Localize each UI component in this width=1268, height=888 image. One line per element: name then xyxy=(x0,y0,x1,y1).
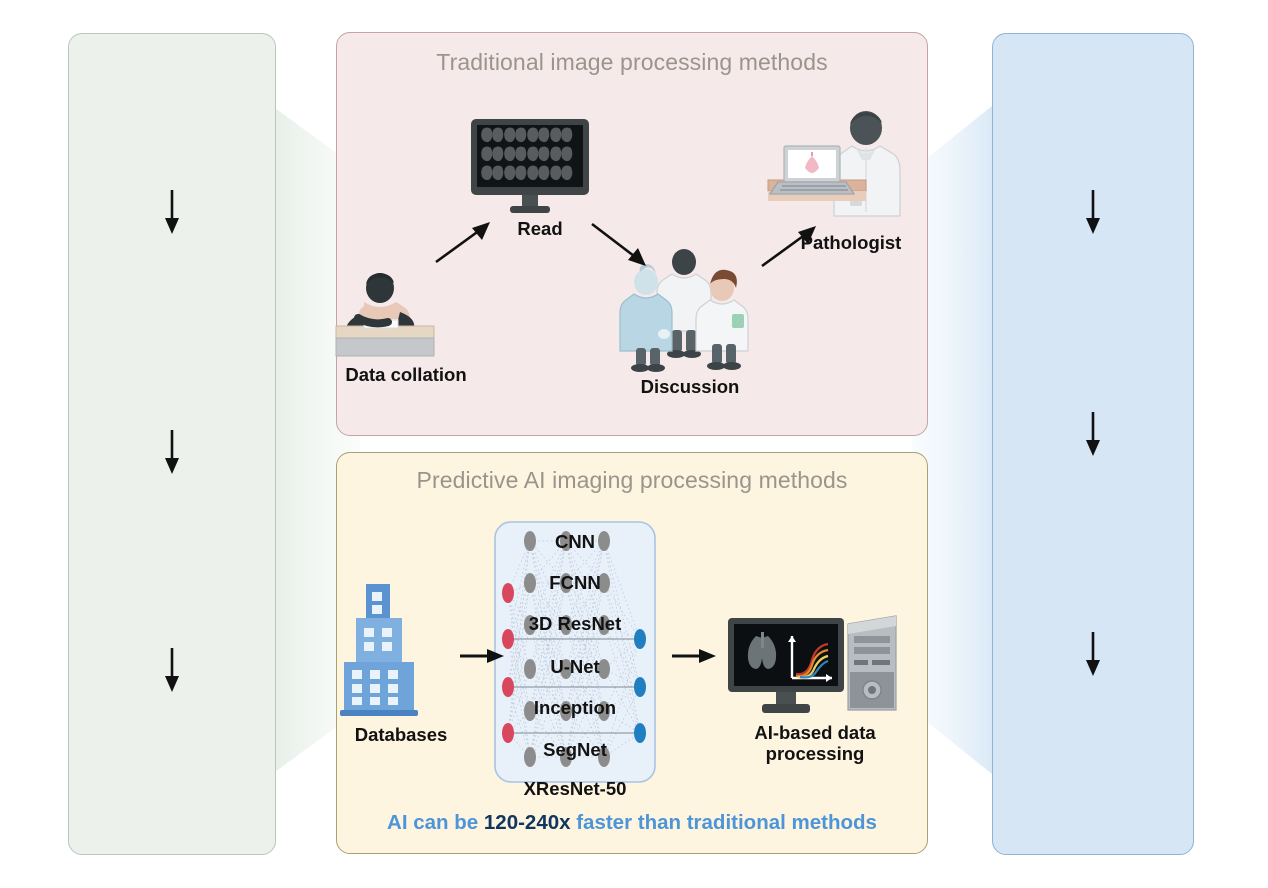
right-arrow-icon xyxy=(460,645,508,667)
down-arrow-icon xyxy=(1084,190,1102,236)
down-arrow-icon xyxy=(163,648,181,694)
node-label-discussion: Discussion xyxy=(620,376,760,397)
pathologist-at-laptop-icon xyxy=(762,106,940,230)
node-label-data-collation: Data collation xyxy=(330,364,482,385)
node-databases: Databases xyxy=(330,580,472,745)
node-discussion: Discussion xyxy=(620,248,760,397)
node-data-collation: Data collation xyxy=(330,272,482,385)
node-neural-network: CNN FCNN 3D ResNet U-Net Inception SegNe… xyxy=(494,521,656,783)
traditional-panel-title: Traditional image processing methods xyxy=(337,49,927,76)
figure-canvas: Patient Physician xyxy=(0,0,1268,888)
diagonal-arrow-icon xyxy=(432,218,494,268)
down-arrow-icon xyxy=(163,190,181,236)
network-layer-cnn: CNN xyxy=(494,531,656,552)
network-layer-inception: Inception xyxy=(494,697,656,718)
ai-footer-lead: AI can be xyxy=(387,811,484,834)
database-building-icon xyxy=(330,580,472,722)
down-arrow-icon xyxy=(1084,632,1102,678)
node-label-databases: Databases xyxy=(330,724,472,745)
computer-workstation-icon xyxy=(720,614,910,718)
ai-speed-footer: AI can be 120-240x faster than tradition… xyxy=(337,811,927,835)
neural-network-icon: CNN FCNN 3D ResNet U-Net Inception SegNe… xyxy=(494,521,656,783)
network-layer-u-net: U-Net xyxy=(494,656,656,677)
person-writing-at-desk-icon xyxy=(330,272,482,358)
node-label-ai-based-data-processing: AI-based data processing xyxy=(720,722,910,765)
diagonal-arrow-icon xyxy=(588,218,650,270)
network-layer-xresnet-50: XResNet-50 xyxy=(494,778,656,799)
monitor-ct-slices-icon xyxy=(470,118,610,214)
ai-footer-trail: faster than traditional methods xyxy=(571,811,877,834)
ai-panel-title: Predictive AI imaging processing methods xyxy=(337,467,927,494)
down-arrow-icon xyxy=(163,430,181,476)
right-arrow-icon xyxy=(672,645,720,667)
network-layer-segnet: SegNet xyxy=(494,739,656,760)
network-layer-fcnn: FCNN xyxy=(494,572,656,593)
network-layer-3d-resnet: 3D ResNet xyxy=(494,613,656,634)
down-arrow-icon xyxy=(1084,412,1102,458)
ai-footer-highlight: 120-240x xyxy=(484,811,571,834)
diagonal-arrow-icon xyxy=(758,222,820,272)
node-ai-based-data-processing: AI-based data processing xyxy=(720,614,910,765)
